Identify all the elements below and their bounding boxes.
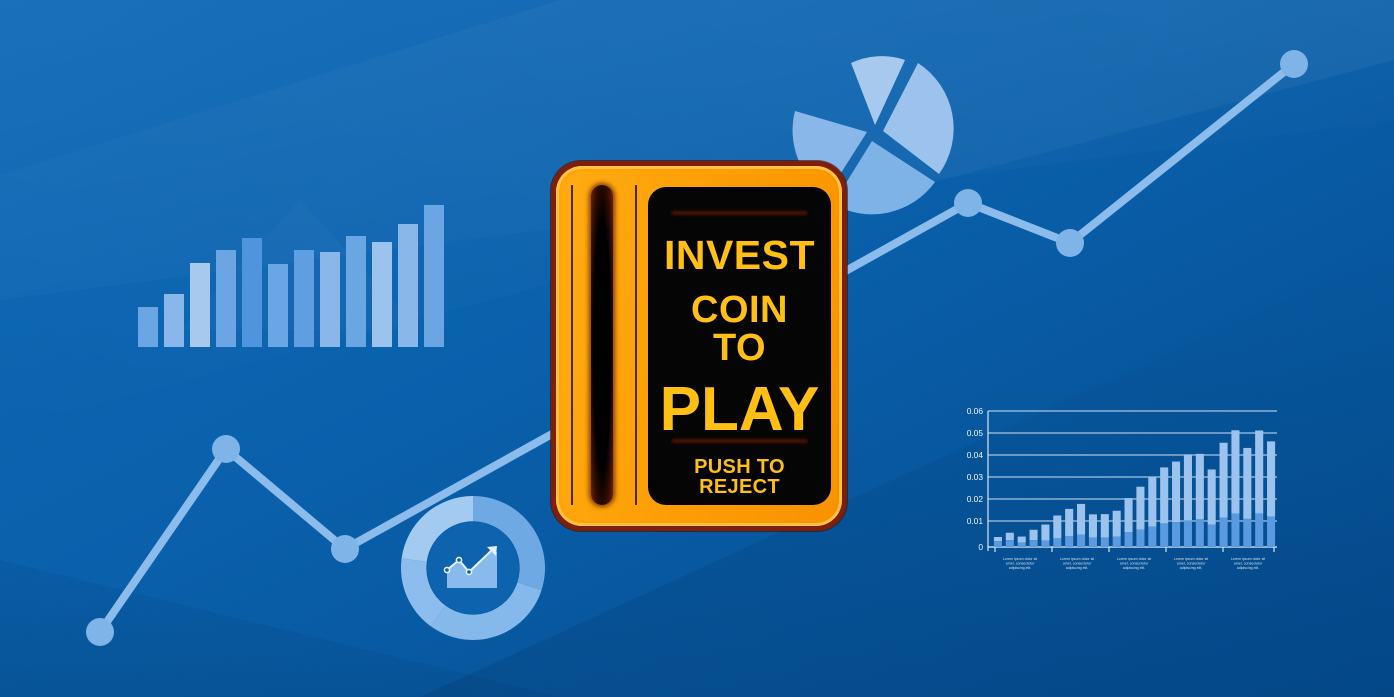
bar-segment-lower xyxy=(1065,536,1073,547)
arcade-coin-machine[interactable]: INVEST COIN TO PLAY PUSH TO REJECT xyxy=(551,161,847,531)
poster-canvas: 0.06 0.05 0.04 0.03 0.02 0.01 0 Lorem ip xyxy=(0,0,1394,697)
bar-segment-upper xyxy=(1089,514,1097,537)
line-chart-icon-point xyxy=(456,557,461,562)
bar-segment-upper xyxy=(1006,533,1014,540)
line-chart-icon-point xyxy=(444,567,449,572)
bar-segment-lower xyxy=(1220,518,1228,547)
bar-segment-lower xyxy=(1089,538,1097,547)
bar-segment-upper xyxy=(1208,469,1216,524)
bar-segment-lower xyxy=(1208,525,1216,547)
y-tick: 0.05 xyxy=(967,428,984,438)
bar xyxy=(346,236,366,347)
bar-segment-lower xyxy=(1018,542,1026,547)
bar-segment-upper xyxy=(1136,487,1144,530)
bar-segment-lower xyxy=(1041,541,1049,547)
bar xyxy=(294,250,314,347)
bar-segment-lower xyxy=(994,541,1002,547)
chart-y-tick-labels: 0.06 0.05 0.04 0.03 0.02 0.01 0 xyxy=(967,406,984,552)
bar-segment-lower xyxy=(1148,527,1156,547)
bar xyxy=(398,224,418,347)
bar-segment-upper xyxy=(1113,511,1121,537)
bar-segment-lower xyxy=(1184,520,1192,547)
bar-segment-upper xyxy=(1267,441,1275,516)
bar xyxy=(138,307,158,347)
slot-guide-line-right xyxy=(635,185,637,505)
bar-segment-lower xyxy=(1172,522,1180,547)
bar-segment-upper xyxy=(1196,454,1204,520)
x-category-label: Lorem ipsum dolor sitamet, consecteturad… xyxy=(1231,557,1265,570)
x-category-label: Lorem ipsum dolor sitamet, consecteturad… xyxy=(1003,557,1037,570)
line-chart-point xyxy=(1280,50,1308,78)
right-bar-chart: 0.06 0.05 0.04 0.03 0.02 0.01 0 Lorem ip xyxy=(967,406,1277,570)
bar-segment-upper xyxy=(1160,467,1168,523)
bar-segment-upper xyxy=(1243,448,1251,519)
bar-segment-lower xyxy=(1113,537,1121,547)
bar-segment-upper xyxy=(1255,430,1263,513)
bar-segment-upper xyxy=(1231,430,1239,513)
bar-segment-upper xyxy=(1053,515,1061,538)
bar-segment-upper xyxy=(1101,514,1109,538)
coin-slot[interactable] xyxy=(591,185,613,505)
bar-segment-lower xyxy=(1125,532,1133,547)
line-chart-point xyxy=(1056,229,1084,257)
bar xyxy=(190,263,210,347)
bar xyxy=(372,242,392,347)
x-category-label: Lorem ipsum dolor sitamet, consecteturad… xyxy=(1060,557,1094,570)
bar xyxy=(424,205,444,347)
bar-segment-upper xyxy=(1030,530,1038,540)
bar-segment-lower xyxy=(1196,519,1204,547)
bar-segment-upper xyxy=(994,537,1002,541)
x-category-label: Lorem ipsum dolor sitamet, consecteturad… xyxy=(1117,557,1151,570)
y-tick: 0.06 xyxy=(967,406,984,416)
bar-segment-upper xyxy=(1041,525,1049,541)
display-line-play: PLAY xyxy=(660,379,820,441)
bar xyxy=(242,238,262,347)
display-line-coin-to: COIN TO xyxy=(662,291,817,367)
y-tick: 0.03 xyxy=(967,472,984,482)
donut-chart xyxy=(401,496,545,640)
chart-bars xyxy=(994,430,1275,547)
bar xyxy=(268,264,288,347)
bar-segment-lower xyxy=(1160,523,1168,547)
bar-segment-upper xyxy=(1220,443,1228,518)
display-line-push-to-reject: PUSH TO REJECT xyxy=(662,457,817,497)
bar-segment-upper xyxy=(1018,537,1026,543)
left-bar-chart xyxy=(138,205,444,347)
bar-segment-lower xyxy=(1077,535,1085,547)
bar-segment-lower xyxy=(1267,517,1275,547)
bar xyxy=(320,252,340,347)
bar-segment-lower xyxy=(1136,530,1144,547)
bar-segment-upper xyxy=(1125,498,1133,532)
line-chart-point xyxy=(331,535,359,563)
bar-segment-lower xyxy=(1243,519,1251,547)
line-chart-point xyxy=(212,435,240,463)
bar-segment-lower xyxy=(1006,540,1014,547)
coin-slot-group[interactable] xyxy=(569,185,641,505)
bar-segment-upper xyxy=(1172,462,1180,523)
chart-category-labels: Lorem ipsum dolor sitamet, consecteturad… xyxy=(1003,557,1265,570)
bar-segment-lower xyxy=(1101,538,1109,547)
display-line-invest: INVEST xyxy=(664,235,815,276)
bar-segment-lower xyxy=(1255,513,1263,547)
bar-segment-upper xyxy=(1077,504,1085,535)
bar-segment-upper xyxy=(1065,509,1073,536)
y-tick: 0.04 xyxy=(967,450,984,460)
bar-segment-lower xyxy=(1030,540,1038,547)
bar-segment-upper xyxy=(1184,454,1192,520)
bar-segment-lower xyxy=(1053,538,1061,547)
slot-guide-line-left xyxy=(571,185,573,505)
bar xyxy=(216,250,236,347)
x-category-label: Lorem ipsum dolor sitamet, consecteturad… xyxy=(1174,557,1208,570)
y-tick: 0 xyxy=(978,542,983,552)
y-tick: 0.02 xyxy=(967,494,984,504)
bar xyxy=(164,294,184,347)
y-tick: 0.01 xyxy=(967,516,984,526)
line-chart-point xyxy=(86,618,114,646)
chart-x-ticks xyxy=(995,547,1274,552)
bar-segment-lower xyxy=(1231,514,1239,547)
line-chart-point xyxy=(954,189,982,217)
bar-segment-upper xyxy=(1148,477,1156,527)
line-chart-icon-point xyxy=(466,569,471,574)
machine-display-panel: INVEST COIN TO PLAY PUSH TO REJECT xyxy=(648,187,831,505)
